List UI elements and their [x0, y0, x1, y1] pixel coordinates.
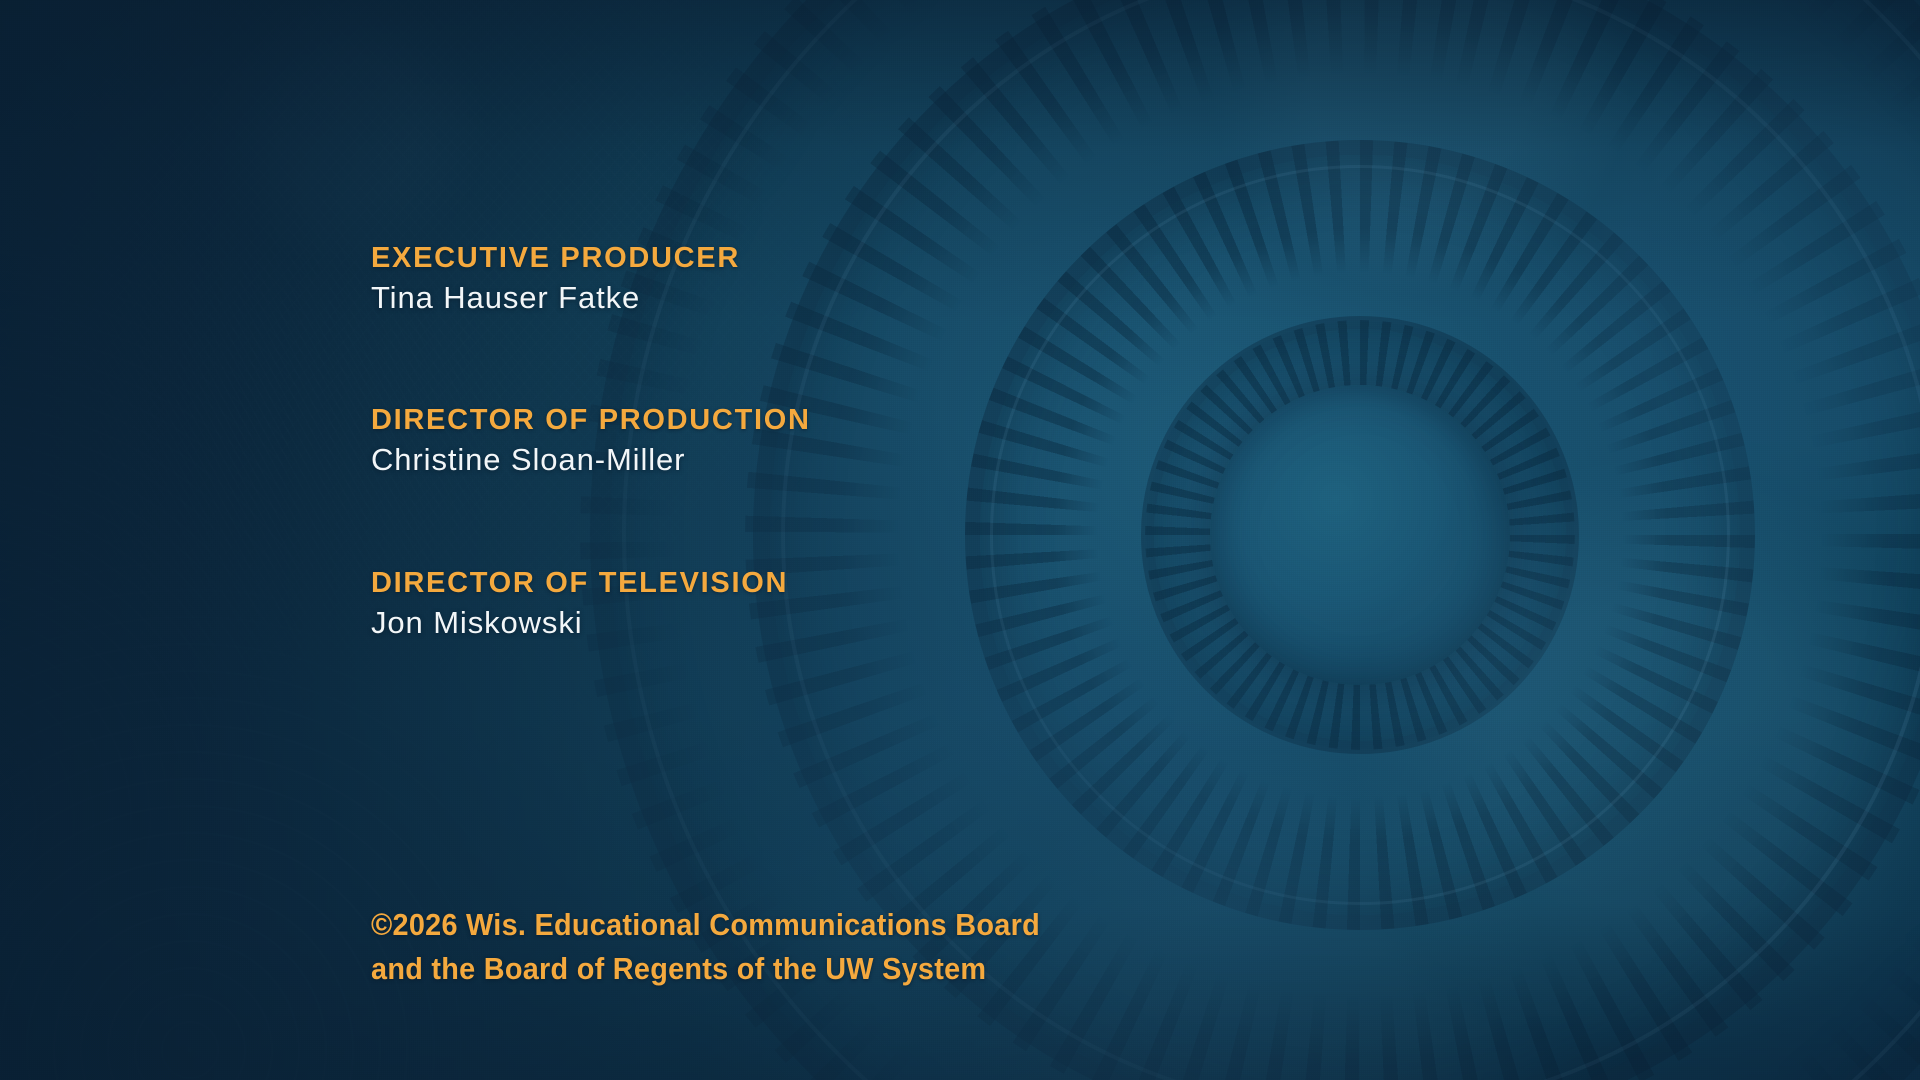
end-credits-card: EXECUTIVE PRODUCER Tina Hauser Fatke DIR… — [0, 0, 1920, 1080]
credit-role-label: EXECUTIVE PRODUCER — [371, 243, 740, 274]
credit-role-label: DIRECTOR OF TELEVISION — [371, 568, 788, 599]
credits-content: EXECUTIVE PRODUCER Tina Hauser Fatke DIR… — [0, 0, 1920, 1080]
credit-role-label: DIRECTOR OF PRODUCTION — [371, 405, 811, 436]
copyright-line-2: and the Board of Regents of the UW Syste… — [371, 947, 1040, 991]
credit-block-director-of-production: DIRECTOR OF PRODUCTION Christine Sloan-M… — [371, 405, 811, 477]
copyright-notice: ©2026 Wis. Educational Communications Bo… — [371, 903, 1090, 991]
credit-block-executive-producer: EXECUTIVE PRODUCER Tina Hauser Fatke — [371, 243, 740, 315]
credit-person-name: Tina Hauser Fatke — [371, 281, 740, 314]
credit-person-name: Christine Sloan-Miller — [371, 443, 811, 476]
credit-person-name: Jon Miskowski — [371, 606, 788, 639]
copyright-line-1: ©2026 Wis. Educational Communications Bo… — [371, 903, 1040, 947]
credit-block-director-of-television: DIRECTOR OF TELEVISION Jon Miskowski — [371, 568, 788, 640]
